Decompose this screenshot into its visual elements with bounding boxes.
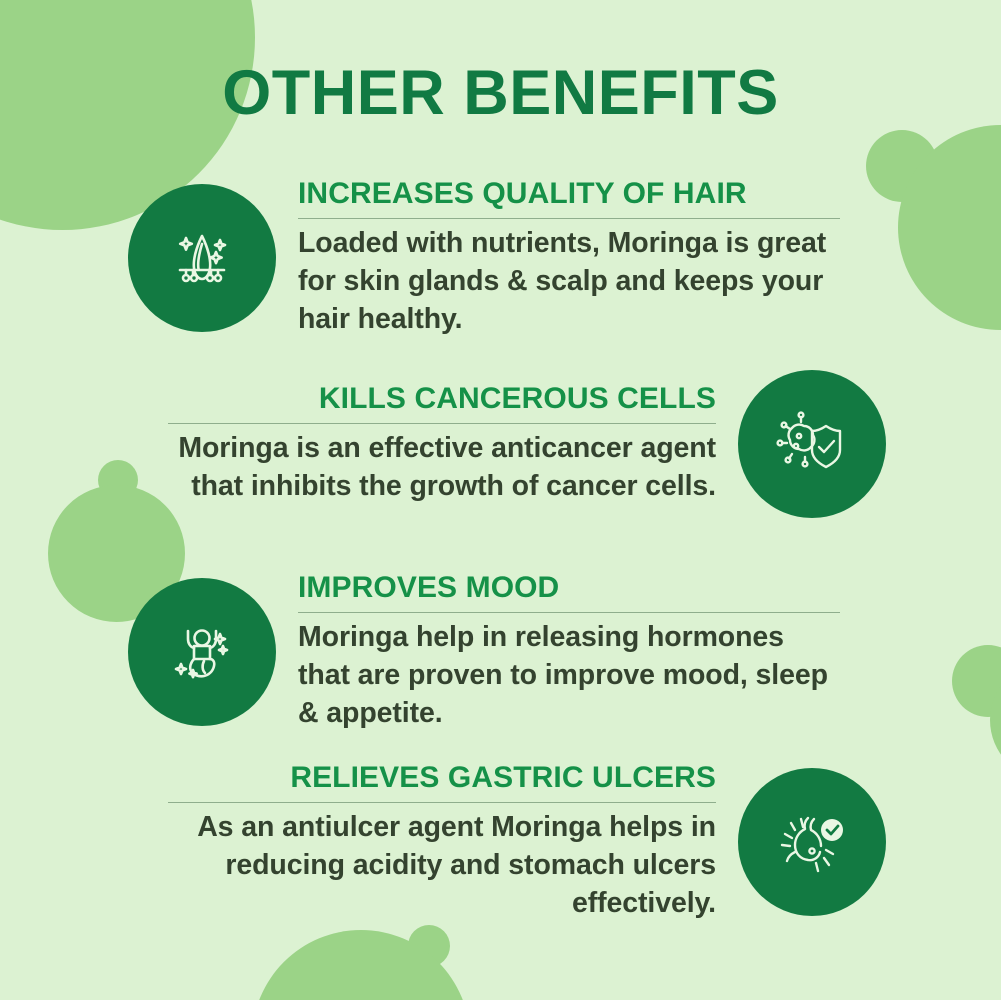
- benefit-body: Loaded with nutrients, Moringa is great …: [298, 225, 840, 338]
- decorative-circle-left-small: [98, 460, 138, 500]
- benefit-heading: RELIEVES GASTRIC ULCERS: [168, 762, 716, 794]
- benefit-row-relieves-gastric-ulcers: RELIEVES GASTRIC ULCERS As an antiulcer …: [168, 762, 886, 922]
- benefit-heading: KILLS CANCEROUS CELLS: [168, 383, 716, 415]
- benefit-text-block: IMPROVES MOOD Moringa help in releasing …: [298, 572, 840, 732]
- page-title: OTHER BENEFITS: [0, 62, 1001, 125]
- benefit-body: As an antiulcer agent Moringa helps in r…: [168, 809, 716, 922]
- virus-shield-check-icon-bubble: [738, 370, 886, 518]
- stomach-check-icon-bubble: [738, 768, 886, 916]
- hair-follicle-icon: [160, 216, 244, 300]
- benefit-row-increases-quality-of-hair: INCREASES QUALITY OF HAIR Loaded with nu…: [128, 178, 840, 338]
- decorative-circle-bottom-large: [252, 930, 470, 1000]
- benefit-row-kills-cancerous-cells: KILLS CANCEROUS CELLS Moringa is an effe…: [168, 370, 886, 518]
- benefit-divider: [168, 802, 716, 803]
- hair-follicle-icon-bubble: [128, 184, 276, 332]
- happy-person-icon: [160, 610, 244, 694]
- benefit-text-block: RELIEVES GASTRIC ULCERS As an antiulcer …: [168, 762, 716, 922]
- decorative-circle-right-small: [952, 645, 1001, 717]
- decorative-circle-top-right-large: [898, 125, 1001, 330]
- benefit-body: Moringa help in releasing hormones that …: [298, 619, 840, 732]
- benefit-divider: [298, 612, 840, 613]
- benefit-heading: INCREASES QUALITY OF HAIR: [298, 178, 840, 210]
- decorative-circle-top-right-small: [866, 130, 938, 202]
- benefit-divider: [298, 218, 840, 219]
- benefit-row-improves-mood: IMPROVES MOOD Moringa help in releasing …: [128, 572, 840, 732]
- infographic-poster: OTHER BENEFITS: [0, 0, 1001, 1000]
- stomach-check-icon: [770, 800, 854, 884]
- benefit-body: Moringa is an effective anticancer agent…: [168, 430, 716, 505]
- benefit-heading: IMPROVES MOOD: [298, 572, 840, 604]
- virus-shield-check-icon: [770, 402, 854, 486]
- benefit-divider: [168, 423, 716, 424]
- benefit-text-block: INCREASES QUALITY OF HAIR Loaded with nu…: [298, 178, 840, 338]
- happy-person-icon-bubble: [128, 578, 276, 726]
- benefit-text-block: KILLS CANCEROUS CELLS Moringa is an effe…: [168, 383, 716, 506]
- decorative-circle-right-large: [990, 660, 1001, 780]
- decorative-circle-bottom-small: [408, 925, 450, 967]
